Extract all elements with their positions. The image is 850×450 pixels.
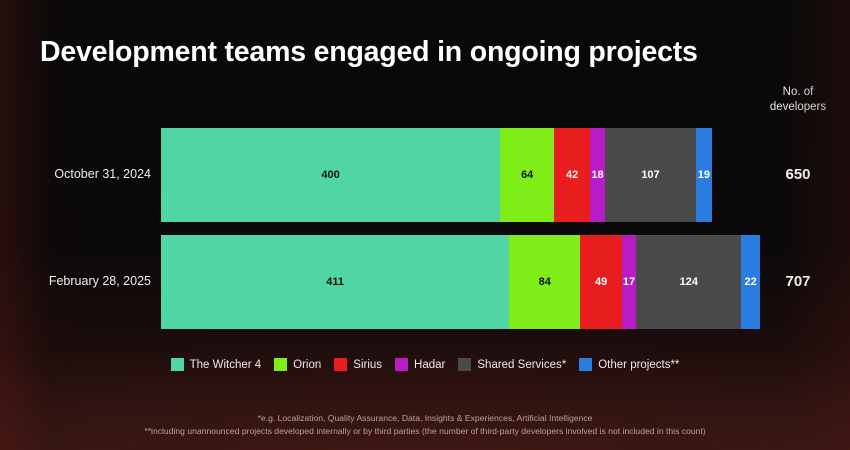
bar-segment-the-witcher-4-row-2[interactable]: 411 (161, 235, 509, 329)
chart-legend: The Witcher 4OrionSiriusHadarShared Serv… (0, 358, 850, 371)
bar-segment-shared-services-row-1[interactable]: 107 (605, 128, 696, 222)
bar-segment-shared-services-row-2[interactable]: 124 (636, 235, 741, 329)
stacked-bar-row-2: 41184491712422 (161, 235, 760, 329)
legend-swatch-icon (458, 358, 471, 371)
segment-value-label: 18 (591, 169, 603, 181)
segment-value-label: 411 (326, 276, 344, 288)
segment-value-label: 19 (698, 169, 710, 181)
bar-segment-orion-row-2[interactable]: 84 (509, 235, 580, 329)
legend-item-sirius[interactable]: Sirius (334, 358, 382, 371)
segment-value-label: 42 (566, 169, 578, 181)
row-label-2: February 28, 2025 (49, 274, 151, 288)
segment-value-label: 49 (595, 276, 607, 288)
footnotes: *e.g. Localization, Quality Assurance, D… (0, 412, 850, 438)
legend-item-label: Other projects** (598, 359, 679, 371)
legend-swatch-icon (274, 358, 287, 371)
legend-item-label: Hadar (414, 359, 445, 371)
totals-column-header-line2: developers (752, 100, 844, 115)
bar-segment-hadar-row-2[interactable]: 17 (622, 235, 636, 329)
segment-value-label: 124 (680, 276, 698, 288)
row-label-1: October 31, 2024 (54, 167, 151, 181)
legend-swatch-icon (395, 358, 408, 371)
segment-value-label: 107 (641, 169, 659, 181)
footnote-one: *e.g. Localization, Quality Assurance, D… (0, 412, 850, 425)
segment-value-label: 64 (521, 169, 533, 181)
legend-swatch-icon (579, 358, 592, 371)
totals-column-header-line1: No. of (752, 85, 844, 100)
legend-swatch-icon (334, 358, 347, 371)
bar-segment-the-witcher-4-row-1[interactable]: 400 (161, 128, 500, 222)
bar-segment-other-projects-row-1[interactable]: 19 (696, 128, 712, 222)
legend-item-label: Orion (293, 359, 321, 371)
segment-value-label: 17 (623, 276, 635, 288)
bar-segment-sirius-row-1[interactable]: 42 (554, 128, 590, 222)
legend-item-other-projects[interactable]: Other projects** (579, 358, 679, 371)
bar-segment-orion-row-1[interactable]: 64 (500, 128, 554, 222)
page-title: Development teams engaged in ongoing pro… (40, 36, 698, 69)
legend-item-shared-services[interactable]: Shared Services* (458, 358, 566, 371)
legend-swatch-icon (171, 358, 184, 371)
row-total-1: 650 (752, 166, 844, 183)
row-total-2: 707 (752, 273, 844, 290)
legend-item-the-witcher-4[interactable]: The Witcher 4 (171, 358, 262, 371)
totals-column-header: No. of developers (752, 85, 844, 115)
legend-item-label: Sirius (353, 359, 382, 371)
segment-value-label: 84 (539, 276, 551, 288)
legend-item-label: Shared Services* (477, 359, 566, 371)
stacked-bar-row-1: 40064421810719 (161, 128, 712, 222)
legend-item-label: The Witcher 4 (190, 359, 262, 371)
footnote-two: **including unannounced projects develop… (0, 425, 850, 438)
slide-canvas: Development teams engaged in ongoing pro… (0, 0, 850, 450)
legend-item-orion[interactable]: Orion (274, 358, 321, 371)
bar-segment-sirius-row-2[interactable]: 49 (580, 235, 622, 329)
legend-item-hadar[interactable]: Hadar (395, 358, 445, 371)
segment-value-label: 400 (321, 169, 339, 181)
bar-segment-hadar-row-1[interactable]: 18 (590, 128, 605, 222)
